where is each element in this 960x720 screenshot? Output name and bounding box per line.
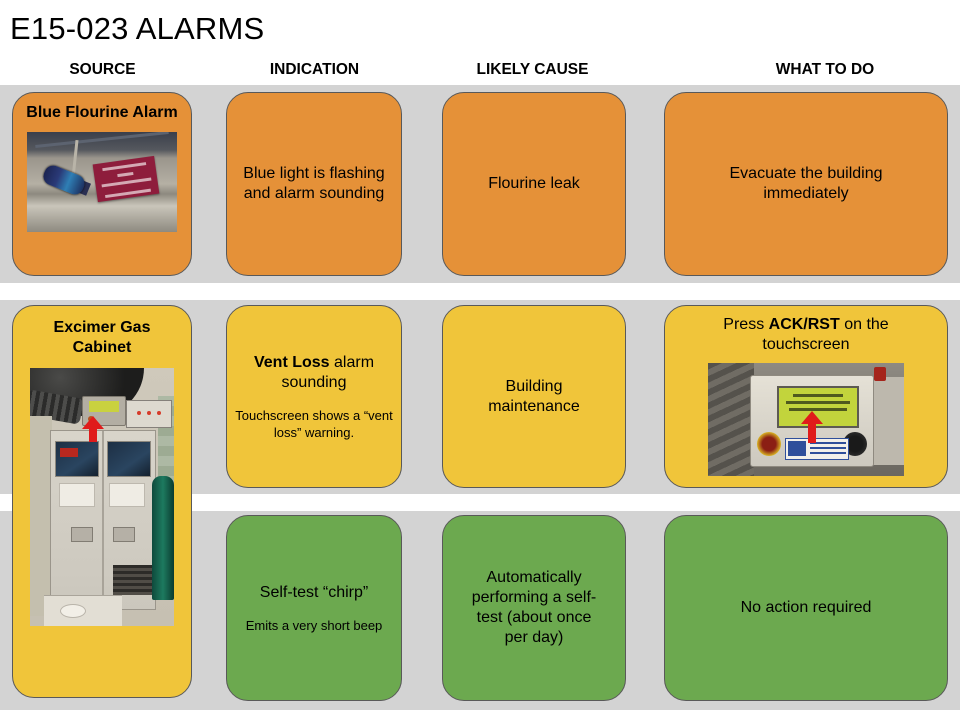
what-to-do-text-row-3: No action required bbox=[741, 598, 872, 618]
flex-hose-detail bbox=[708, 363, 754, 476]
monitor-screen-detail bbox=[89, 401, 119, 412]
likely-cause-text-row-1: Flourine leak bbox=[488, 174, 580, 194]
card-source-blue-flourine-alarm[interactable]: Blue Flourine Alarm bbox=[12, 92, 192, 276]
card-title-excimer-gas-cabinet: Excimer Gas Cabinet bbox=[22, 318, 182, 358]
control-box-detail bbox=[126, 400, 172, 428]
equipment-rack-detail bbox=[869, 377, 904, 465]
column-header-source: SOURCE bbox=[10, 61, 195, 79]
column-header-what-to-do: WHAT TO DO bbox=[690, 61, 960, 79]
blue-strobe-light bbox=[41, 163, 87, 197]
indication-secondary-row-3: Emits a very short beep bbox=[239, 617, 389, 634]
column-header-indication: INDICATION bbox=[222, 61, 407, 79]
indication-primary-bold-row-2: Vent Loss bbox=[254, 354, 330, 371]
indication-primary-row-2: Vent Loss alarm sounding bbox=[230, 353, 398, 393]
what-to-do-text-row-1: Evacuate the building immediately bbox=[701, 164, 911, 204]
page-title: E15-023 ALARMS bbox=[10, 10, 264, 48]
card-what-to-do-excimer-self-test[interactable]: No action required bbox=[664, 515, 948, 701]
card-what-to-do-excimer-vent-loss[interactable]: Press ACK/RST on the touchscreen bbox=[664, 305, 948, 488]
what-to-do-bold-row-2: ACK/RST bbox=[769, 316, 840, 333]
likely-cause-text-row-3: Automatically performing a self-test (ab… bbox=[464, 568, 604, 648]
indication-text-row-1: Blue light is flashing and alarm soundin… bbox=[235, 164, 393, 204]
gas-cylinder-detail bbox=[152, 476, 174, 600]
card-title-blue-flourine-alarm: Blue Flourine Alarm bbox=[22, 103, 182, 123]
wall-left-detail bbox=[30, 416, 52, 616]
red-arrow-icon bbox=[801, 411, 823, 443]
photo-blue-flourine-alarm bbox=[27, 132, 177, 232]
ceiling-pipe-detail bbox=[35, 132, 169, 148]
card-indication-excimer-self-test[interactable]: Self-test “chirp” Emits a very short bee… bbox=[226, 515, 402, 701]
warning-sign bbox=[93, 156, 160, 202]
column-header-likely-cause: LIKELY CAUSE bbox=[440, 61, 625, 79]
card-likely-cause-excimer-vent-loss[interactable]: Building maintenance bbox=[442, 305, 626, 488]
red-arrow-icon bbox=[82, 416, 104, 442]
indication-primary-row-3: Self-test “chirp” bbox=[230, 583, 398, 603]
what-to-do-text-row-2: Press ACK/RST on the touchscreen bbox=[686, 315, 926, 355]
card-likely-cause-excimer-self-test[interactable]: Automatically performing a self-test (ab… bbox=[442, 515, 626, 701]
what-to-do-prefix-row-2: Press bbox=[723, 316, 768, 333]
photo-touchscreen-controller bbox=[708, 363, 904, 476]
card-source-excimer-gas-cabinet[interactable]: Excimer Gas Cabinet bbox=[12, 305, 192, 698]
cabinet-base-detail bbox=[44, 595, 122, 626]
likely-cause-text-row-2: Building maintenance bbox=[464, 377, 604, 417]
emergency-stop-button bbox=[757, 432, 781, 456]
photo-excimer-gas-cabinet bbox=[30, 368, 174, 626]
card-likely-cause-blue-flourine-alarm[interactable]: Flourine leak bbox=[442, 92, 626, 276]
card-indication-blue-flourine-alarm[interactable]: Blue light is flashing and alarm soundin… bbox=[226, 92, 402, 276]
card-indication-excimer-vent-loss[interactable]: Vent Loss alarm sounding Touchscreen sho… bbox=[226, 305, 402, 488]
card-what-to-do-blue-flourine-alarm[interactable]: Evacuate the building immediately bbox=[664, 92, 948, 276]
gas-cabinet-body bbox=[50, 430, 156, 610]
indication-secondary-row-2: Touchscreen shows a “vent loss” warning. bbox=[230, 407, 398, 441]
